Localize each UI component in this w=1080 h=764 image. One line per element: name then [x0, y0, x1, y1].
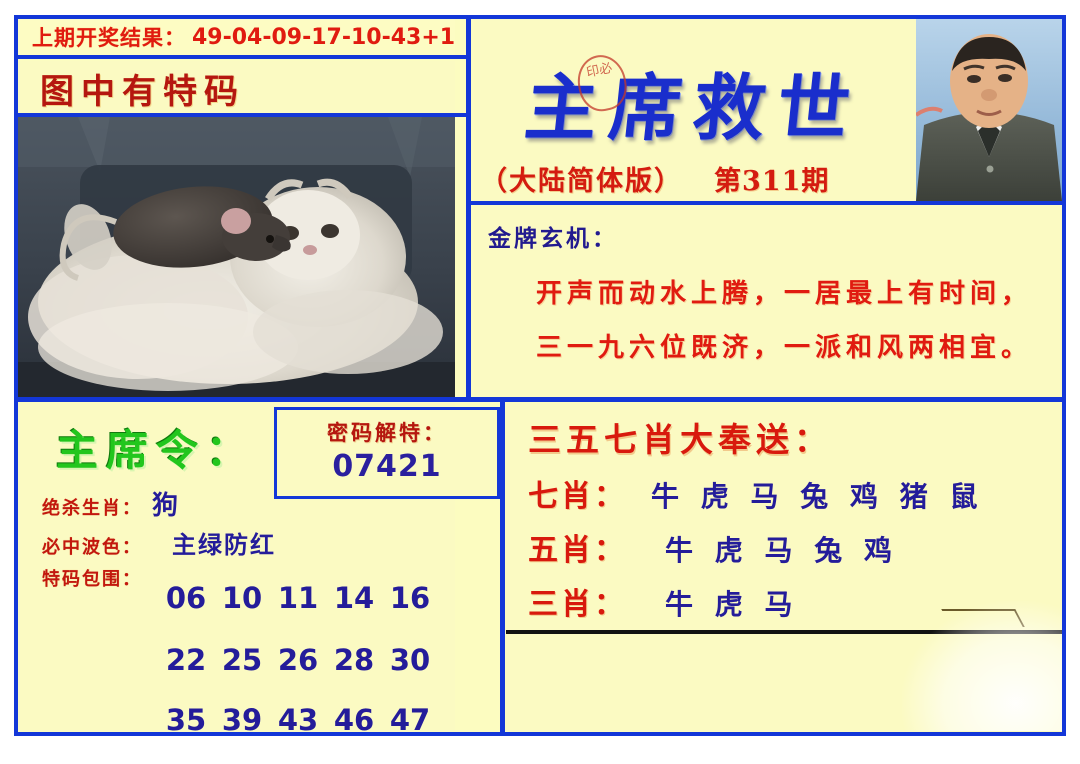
last-draw-numbers: 49-04-09-17-10-43+16	[192, 25, 455, 50]
number-row-1: 0610111416	[158, 581, 438, 615]
number-cell: 30	[382, 643, 438, 677]
picture-section-title-text: 图中有特码	[40, 64, 245, 113]
zodiac-gift-block: 三五七肖大奉送： 七肖： 牛 虎 马 兔 鸡 猪 鼠 五肖： 牛 虎 马 兔 鸡…	[506, 403, 1062, 731]
photo-illustration	[18, 117, 455, 398]
zodiac-key-seven: 七肖：	[528, 471, 627, 515]
lottery-poster: 上期开奖结果： 49-04-09-17-10-43+16 图中有特码	[0, 0, 1080, 764]
last-draw-label: 上期开奖结果：	[32, 22, 186, 52]
number-cell: 10	[214, 581, 270, 615]
last-draw-result-banner: 上期开奖结果： 49-04-09-17-10-43+16	[18, 19, 455, 55]
zodiac-row-five: 五肖： 牛 虎 马 兔 鸡	[528, 525, 898, 569]
number-cell: 46	[326, 703, 382, 731]
password-decode-title: 密码解特：	[277, 417, 497, 447]
issue-number: 第311期	[714, 159, 829, 198]
number-cell: 47	[382, 703, 438, 731]
number-row-2: 2225262830	[158, 643, 438, 677]
masthead-logo-text: 主席救世	[520, 49, 867, 154]
pencil-mark-decoration	[941, 609, 1025, 627]
number-cell: 28	[326, 643, 382, 677]
rule-vertical-top	[466, 15, 471, 398]
number-cell: 06	[158, 581, 214, 615]
zodiac-key-five: 五肖：	[528, 525, 627, 569]
cat-and-rat-photo	[18, 117, 455, 398]
number-cell: 39	[214, 703, 270, 731]
password-decode-value: 07421	[277, 449, 497, 484]
number-row-3: 3539434647	[158, 703, 438, 731]
zodiac-value-seven: 牛 虎 马 兔 鸡 猪 鼠	[651, 475, 984, 515]
picture-section-title: 图中有特码	[18, 61, 455, 115]
number-cell: 26	[270, 643, 326, 677]
mao-portrait	[916, 19, 1062, 201]
rule-below-result-banner	[14, 55, 470, 59]
zodiac-row-three: 三肖： 牛 虎 马	[528, 579, 799, 623]
rule-below-masthead	[470, 201, 1066, 205]
order-row-surround-codes: 特码包围：	[42, 565, 142, 591]
zodiac-block-title: 三五七肖大奉送：	[528, 413, 832, 461]
order-row-kill-zodiac: 绝杀生肖： 狗	[42, 485, 180, 522]
poem-line-2: 三一九六位既济，一派和风两相宜。	[536, 327, 1032, 364]
zodiac-value-three: 牛 虎 马	[665, 583, 799, 623]
number-cell: 43	[270, 703, 326, 731]
order-key-surround-codes: 特码包围：	[42, 565, 142, 591]
seal-text: 印必	[585, 62, 613, 81]
rule-mid-horizontal	[14, 397, 1066, 402]
number-cell: 11	[270, 581, 326, 615]
rule-below-picture-title	[14, 113, 470, 117]
number-cell: 16	[382, 581, 438, 615]
portrait-illustration	[916, 19, 1062, 201]
password-decode-box: 密码解特： 07421	[274, 407, 500, 499]
edition-label: （大陆简体版）	[480, 159, 683, 198]
order-row-wave-color: 必中波色： 主绿防红	[42, 525, 276, 560]
number-cell: 25	[214, 643, 270, 677]
zodiac-row-seven: 七肖： 牛 虎 马 兔 鸡 猪 鼠	[528, 471, 984, 515]
order-value-wave-color: 主绿防红	[172, 525, 276, 560]
masthead: 主席救世 印必 （大陆简体版） 第311期	[474, 19, 1062, 201]
poem-block: 金牌玄机： 开声而动水上腾，一居最上有时间， 三一九六位既济，一派和风两相宜。	[474, 205, 1062, 398]
poem-label: 金牌玄机：	[488, 219, 618, 253]
order-key-wave-color: 必中波色：	[42, 533, 142, 559]
poem-line-1: 开声而动水上腾，一居最上有时间，	[536, 273, 1032, 310]
zodiac-key-three: 三肖：	[528, 579, 627, 623]
chairman-order-title: 主席令：	[56, 417, 256, 478]
number-cell: 22	[158, 643, 214, 677]
zodiac-divider-line	[506, 630, 1062, 634]
order-key-kill-zodiac: 绝杀生肖：	[42, 494, 142, 520]
order-value-kill-zodiac: 狗	[152, 485, 180, 522]
zodiac-value-five: 牛 虎 马 兔 鸡	[665, 529, 898, 569]
number-cell: 14	[326, 581, 382, 615]
rule-vertical-bottom	[500, 399, 505, 736]
number-cell: 35	[158, 703, 214, 731]
